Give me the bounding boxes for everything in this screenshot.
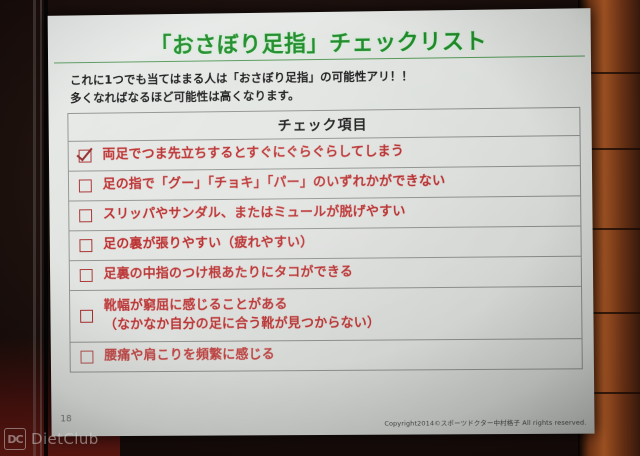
checklist-header-label: チェック項目 (278, 114, 368, 135)
checklist-row[interactable]: スリッパやサンダル、またはミュールが脱げやすい (69, 196, 580, 231)
checklist-row[interactable]: 腰痛や肩こりを頻繁に感じる (71, 339, 582, 372)
projection-screen: 「おさぼり足指」チェックリスト これに1つでも当てはまる人は「おさぼり足指」の可… (48, 8, 595, 436)
checkbox-icon[interactable] (79, 209, 92, 222)
checklist-item-label: 足裏の中指のつけ根あたりにタコができる (103, 264, 353, 285)
checklist-table: チェック項目 両足でつま先立ちするとすぐにぐらぐらしてしまう 足の指で「グー」「… (67, 107, 582, 373)
checklist-item-label: 両足でつま先立ちするとすぐにぐらぐらしてしまう (102, 143, 404, 165)
checkbox-icon[interactable] (79, 239, 92, 252)
checklist-item-line-2: （なかなか自分の足に合う靴が見つからない） (104, 314, 380, 335)
frame-bar-1 (33, 0, 36, 456)
checkbox-icon[interactable] (80, 269, 93, 282)
checklist-row[interactable]: 足の裏が張りやすい（疲れやすい） (69, 227, 580, 262)
checklist-item-label: 足の裏が張りやすい（疲れやすい） (103, 234, 313, 255)
checklist-row[interactable]: 足裏の中指のつけ根あたりにタコができる (70, 257, 581, 291)
dietclub-logo-icon: DC (4, 428, 26, 450)
slide: 「おさぼり足指」チェックリスト これに1つでも当てはまる人は「おさぼり足指」の可… (48, 8, 595, 436)
room-photo: 「おさぼり足指」チェックリスト これに1つでも当てはまる人は「おさぼり足指」の可… (0, 0, 640, 456)
checklist-item-line-1: 靴幅が窮屈に感じることがある (104, 297, 288, 313)
page-number: 18 (60, 414, 71, 424)
checklist-item-label: 足の指で「グー」「チョキ」「パー」のいずれかができない (103, 173, 446, 195)
checklist-item-label: 靴幅が窮屈に感じることがある （なかなか自分の足に合う靴が見つからない） (104, 295, 381, 335)
frame-bar-2 (40, 0, 42, 456)
lead-paragraph: これに1つでも当てはまる人は「おさぼり足指」の可能性アリ！！ 多くなればなるほど… (70, 66, 570, 108)
checkbox-icon[interactable] (80, 351, 93, 364)
checklist-item-label: スリッパやサンダル、またはミュールが脱げやすい (103, 203, 406, 225)
checkbox-checked-icon[interactable] (79, 150, 92, 163)
dietclub-watermark: DC DietClub (4, 428, 99, 450)
checkbox-icon[interactable] (79, 179, 92, 192)
checklist-item-label: 腰痛や肩こりを頻繁に感じる (104, 346, 275, 366)
checklist-row[interactable]: 靴幅が窮屈に感じることがある （なかなか自分の足に合う靴が見つからない） (70, 287, 582, 343)
copyright-notice: Copyright2014©スポーツドクター中村格子 All rights re… (384, 417, 586, 428)
checkbox-icon[interactable] (80, 310, 93, 323)
dietclub-watermark-label: DietClub (31, 430, 99, 448)
